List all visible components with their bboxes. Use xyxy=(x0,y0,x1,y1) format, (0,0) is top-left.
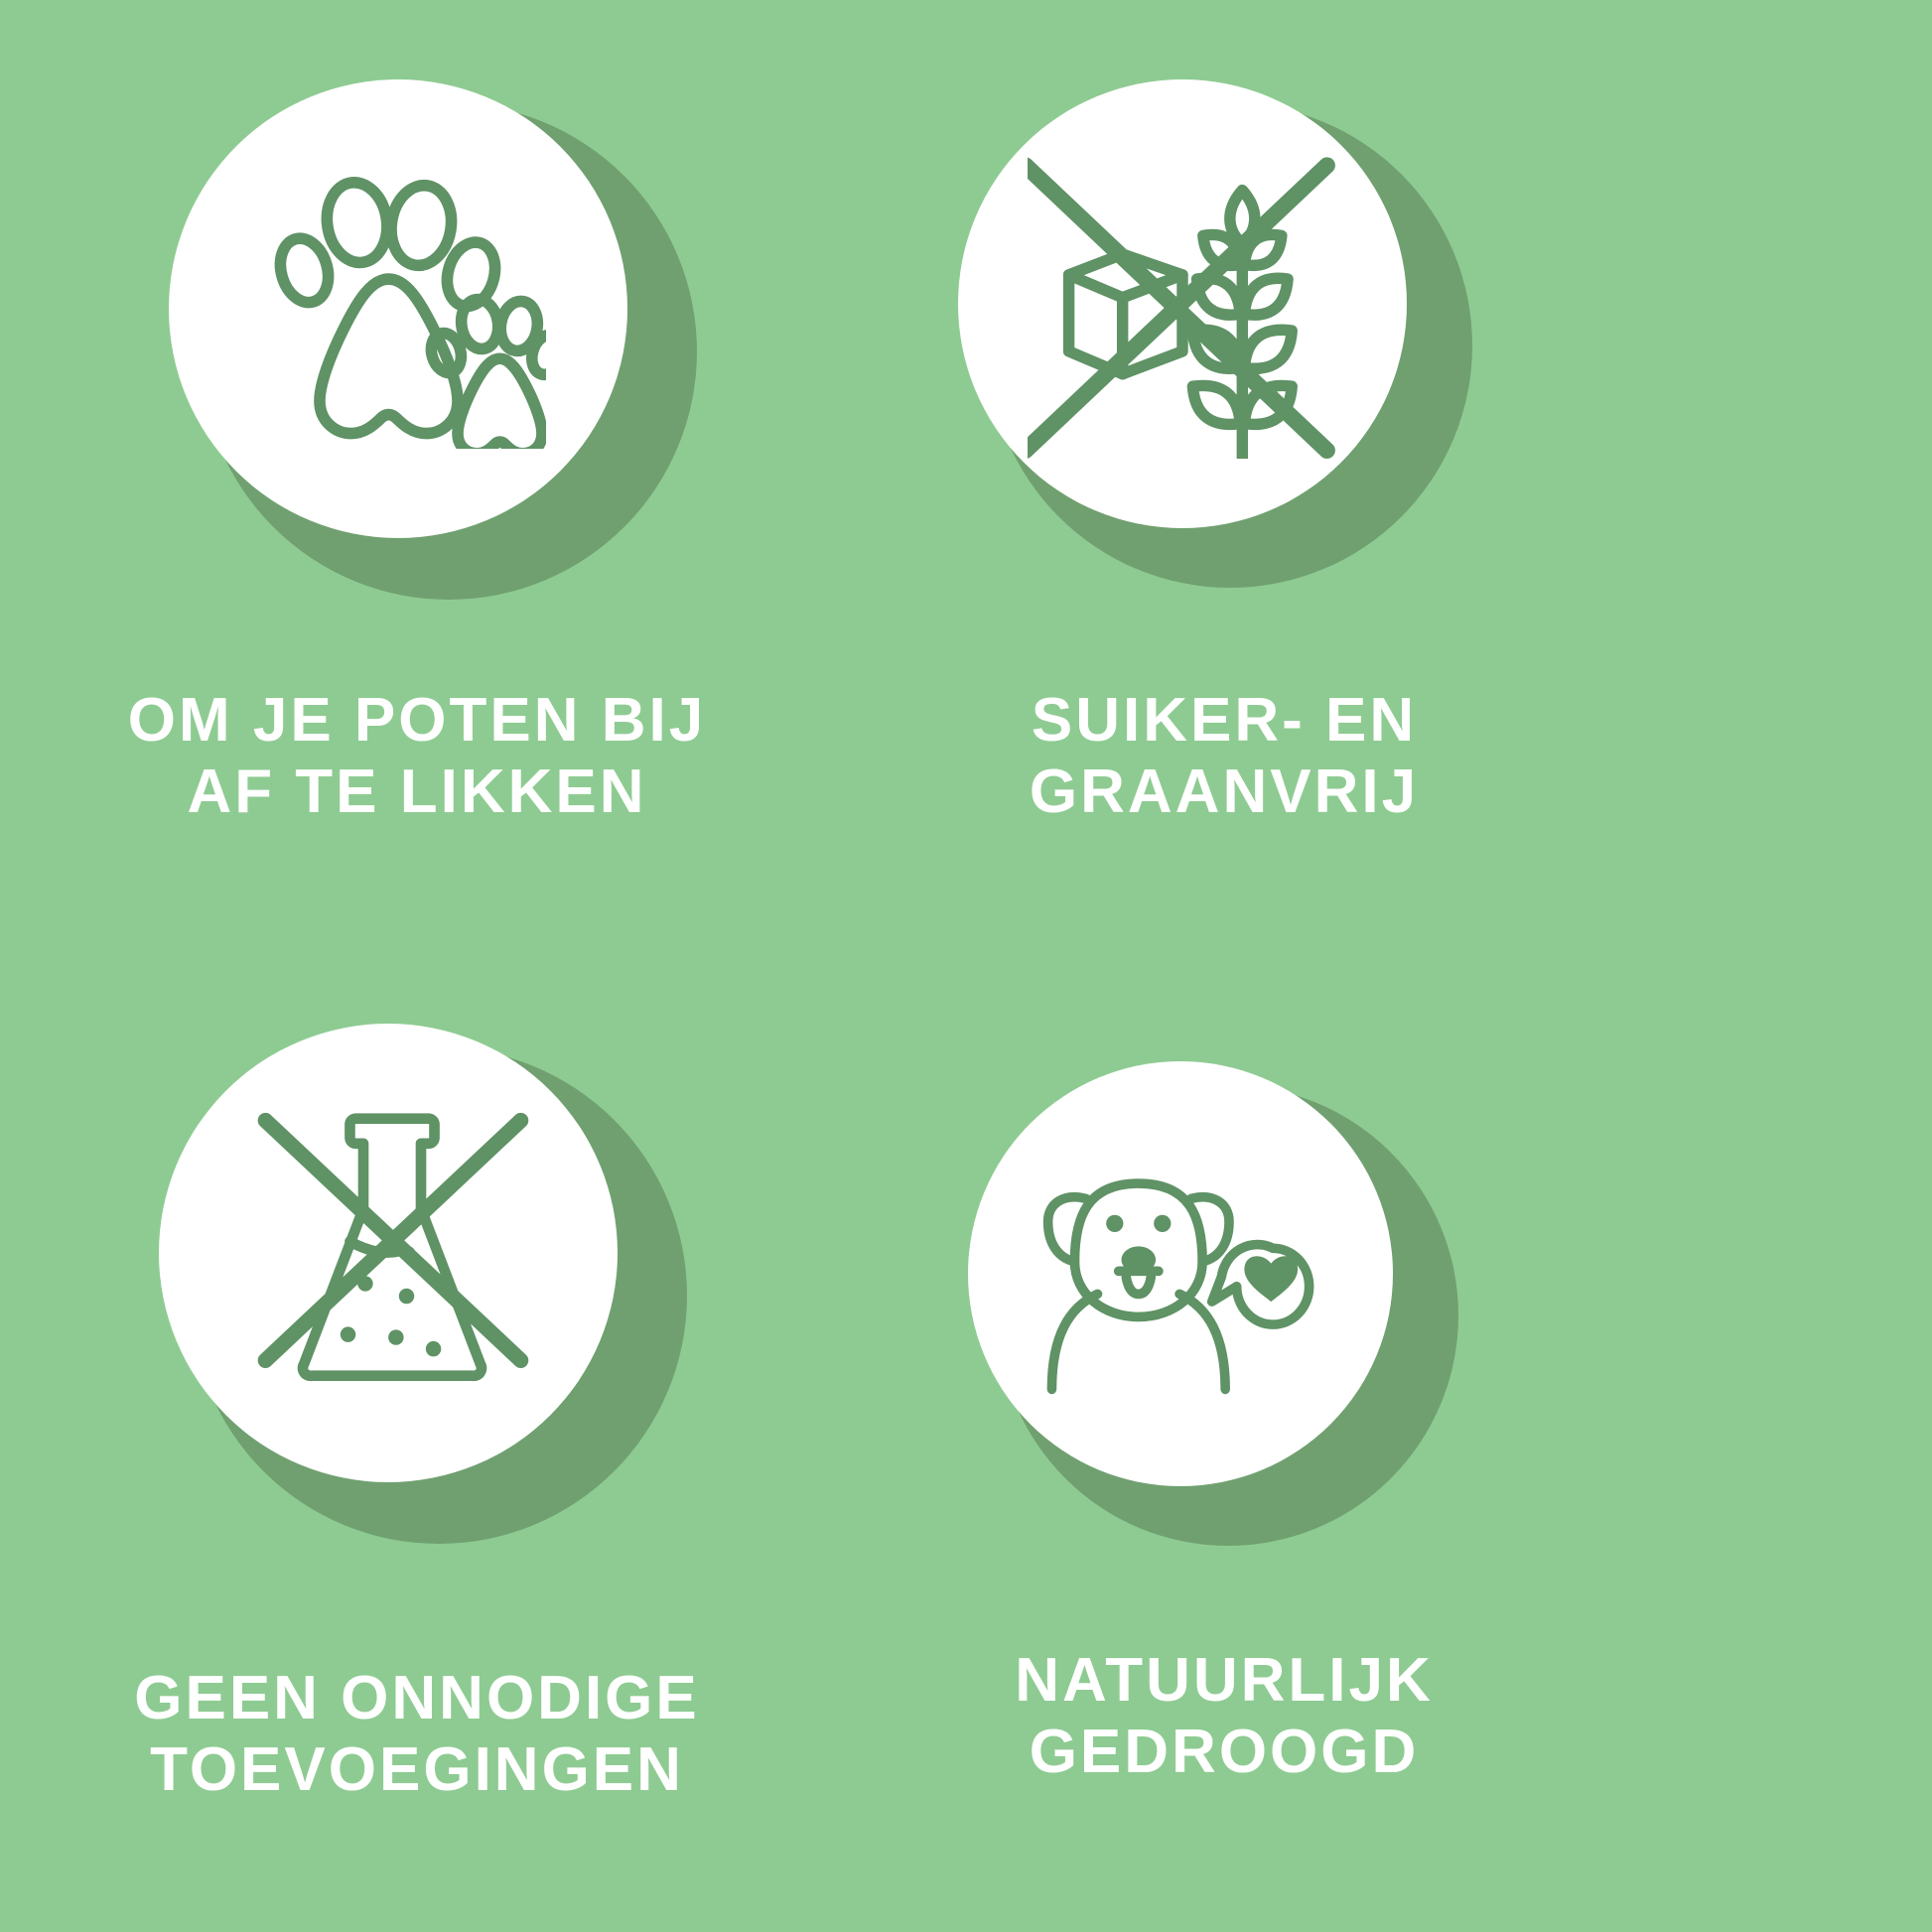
feature-caption-dog: NATUURLIJK GEDROOGD xyxy=(807,1645,1641,1788)
feature-caption-paw: OM JE POTEN BIJ AF TE LIKKEN xyxy=(0,685,834,828)
badge-paw xyxy=(149,62,705,618)
badge-dog xyxy=(946,1043,1502,1599)
badge-grain xyxy=(936,62,1492,618)
feature-caption-grain: SUIKER- EN GRAANVRIJ xyxy=(807,685,1641,828)
badge-flask xyxy=(139,1006,695,1562)
no-sugar-no-grain-icon xyxy=(1028,149,1337,459)
paw-prints-icon xyxy=(258,171,546,449)
feature-caption-flask: GEEN ONNODIGE TOEVOEGINGEN xyxy=(0,1663,834,1806)
feature-card-grain: SUIKER- EN GRAANVRIJ xyxy=(966,0,1932,966)
happy-dog-heart-icon xyxy=(1037,1161,1325,1399)
no-chemicals-flask-icon xyxy=(248,1109,536,1397)
feature-badge-grid: OM JE POTEN BIJ AF TE LIKKEN xyxy=(0,0,1932,1932)
feature-card-dog: NATUURLIJK GEDROOGD xyxy=(966,966,1932,1932)
